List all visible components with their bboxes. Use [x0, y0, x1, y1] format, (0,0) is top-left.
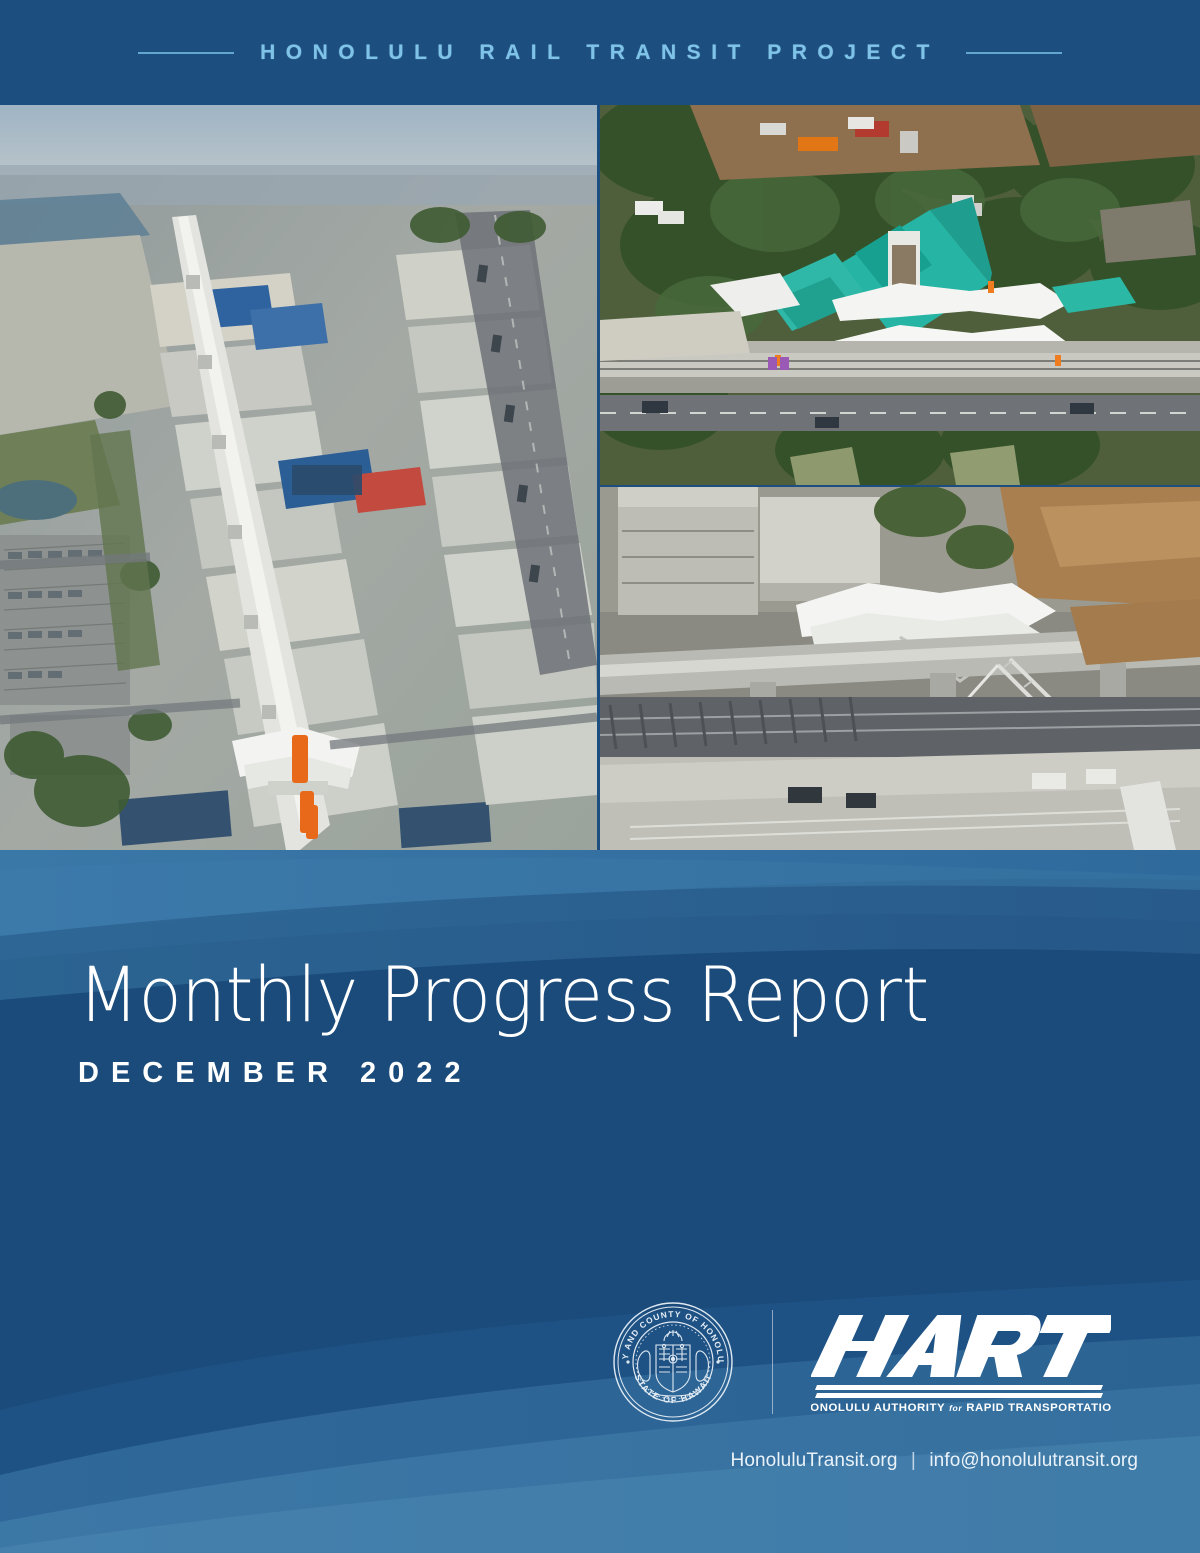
header-band: HONOLULU RAIL TRANSIT PROJECT [0, 0, 1200, 105]
hart-tagline-part2: RAPID TRANSPORTATION [966, 1402, 1111, 1414]
photo-aerial-station-teal-roof [600, 105, 1200, 485]
hart-tagline-part1: HONOLULU AUTHORITY [811, 1402, 945, 1414]
logo-divider [772, 1310, 773, 1414]
header-rule-right-icon [966, 52, 1062, 54]
footer-separator: | [903, 1450, 924, 1471]
photo-aerial-station-platform-crane [600, 487, 1200, 850]
photo-aerial-guideway-industrial-corridor [0, 105, 597, 850]
hart-logo-icon: HONOLULU AUTHORITYforRAPID TRANSPORTATIO… [811, 1307, 1111, 1417]
header-inner: HONOLULU RAIL TRANSIT PROJECT [138, 41, 1062, 65]
hart-tagline: HONOLULU AUTHORITYforRAPID TRANSPORTATIO… [811, 1402, 1111, 1414]
footer-contact: HonoluluTransit.org | info@honolulutrans… [0, 1450, 1200, 1472]
cover-title-block: Monthly Progress Report DECEMBER 2022 [78, 955, 1078, 1090]
footer-email-link[interactable]: info@honolulutransit.org [929, 1450, 1138, 1471]
city-and-county-of-honolulu-seal-icon: CITY AND COUNTY OF HONOLULU STATE OF HAW… [612, 1301, 734, 1423]
page-title-project: HONOLULU RAIL TRANSIT PROJECT [260, 41, 940, 65]
logo-row: CITY AND COUNTY OF HONOLULU STATE OF HAW… [612, 1297, 1152, 1427]
report-title: Monthly Progress Report [78, 955, 1008, 1035]
photo-collage [0, 105, 1200, 850]
hart-tagline-connector: for [949, 1403, 962, 1413]
report-month: DECEMBER 2022 [78, 1057, 1078, 1090]
header-rule-left-icon [138, 52, 234, 54]
footer-website-link[interactable]: HonoluluTransit.org [731, 1450, 898, 1471]
